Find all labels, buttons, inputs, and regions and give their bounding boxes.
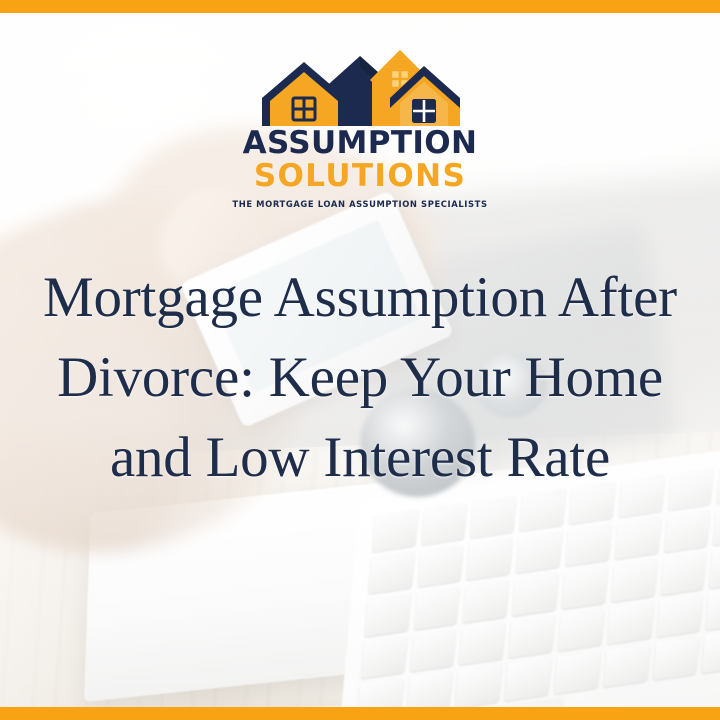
headline-line-3: and Low Interest Rate xyxy=(4,418,716,498)
logo-tagline: THE MORTGAGE LOAN ASSUMPTION SPECIALISTS xyxy=(232,199,487,209)
three-houses-roof-logo-icon xyxy=(260,48,460,126)
promotional-graphic: ASSUMPTION SOLUTIONS THE MORTGAGE LOAN A… xyxy=(0,0,720,720)
bottom-accent-bar xyxy=(0,707,720,720)
headline-line-1: Mortgage Assumption After xyxy=(4,258,716,338)
brand-logo: ASSUMPTION SOLUTIONS THE MORTGAGE LOAN A… xyxy=(0,48,720,209)
logo-word-assumption: ASSUMPTION xyxy=(243,128,478,159)
top-accent-bar xyxy=(0,0,720,13)
headline: Mortgage Assumption After Divorce: Keep … xyxy=(0,258,720,498)
logo-word-solutions: SOLUTIONS xyxy=(254,161,466,192)
headline-line-2: Divorce: Keep Your Home xyxy=(4,338,716,418)
